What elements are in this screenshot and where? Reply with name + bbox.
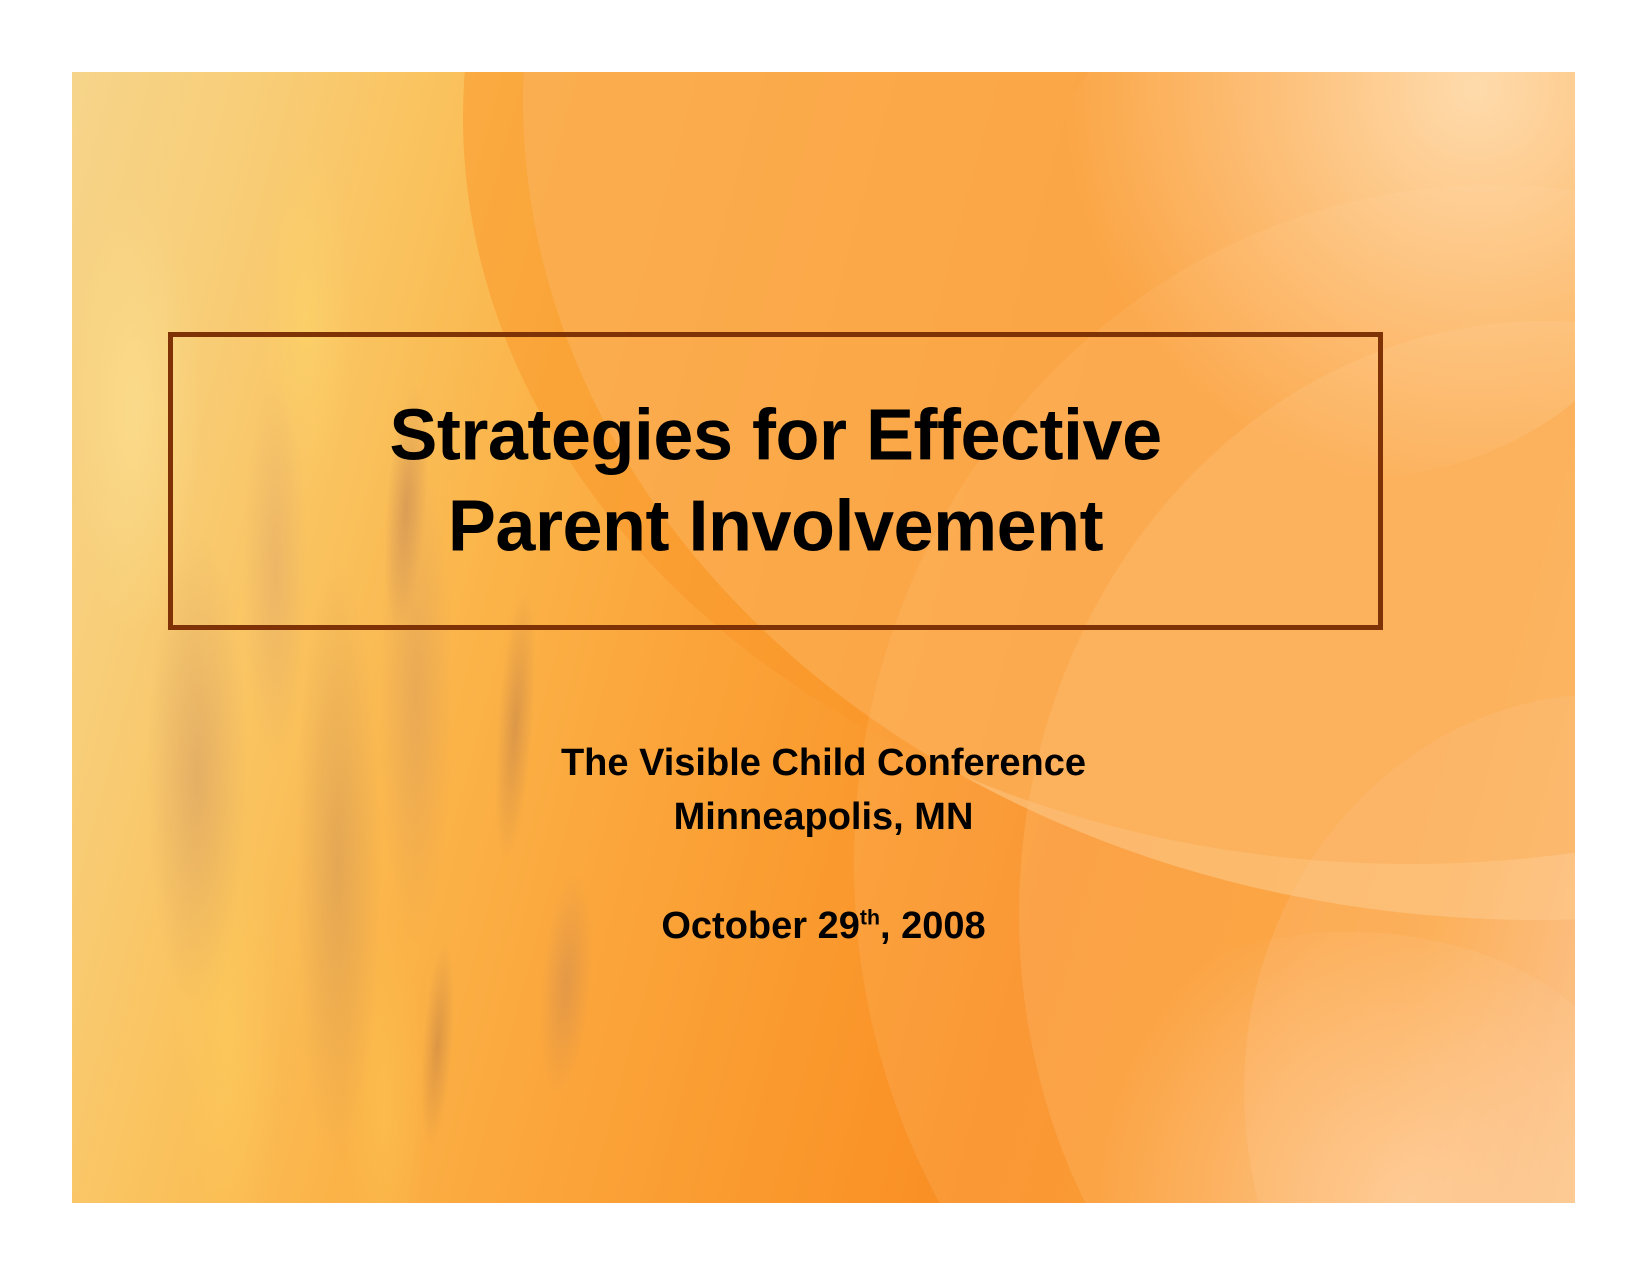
presentation-slide: Strategies for Effective Parent Involvem… xyxy=(72,72,1575,1203)
page-title: Strategies for Effective Parent Involvem… xyxy=(173,390,1378,571)
conference-location: Minneapolis, MN xyxy=(72,791,1575,845)
title-line-1: Strategies for Effective xyxy=(193,390,1358,481)
date-ordinal-suffix: th xyxy=(860,905,880,929)
slide-content: Strategies for Effective Parent Involvem… xyxy=(72,72,1575,1203)
slide-page: Strategies for Effective Parent Involvem… xyxy=(0,0,1650,1275)
conference-name: The Visible Child Conference xyxy=(72,737,1575,791)
title-frame: Strategies for Effective Parent Involvem… xyxy=(168,332,1383,630)
date-year: , 2008 xyxy=(880,905,986,947)
date-month-day: October 29 xyxy=(661,905,860,947)
subtitle: The Visible Child Conference Minneapolis… xyxy=(72,737,1575,845)
presentation-date: October 29th, 2008 xyxy=(72,902,1575,951)
title-line-2: Parent Involvement xyxy=(193,481,1358,572)
